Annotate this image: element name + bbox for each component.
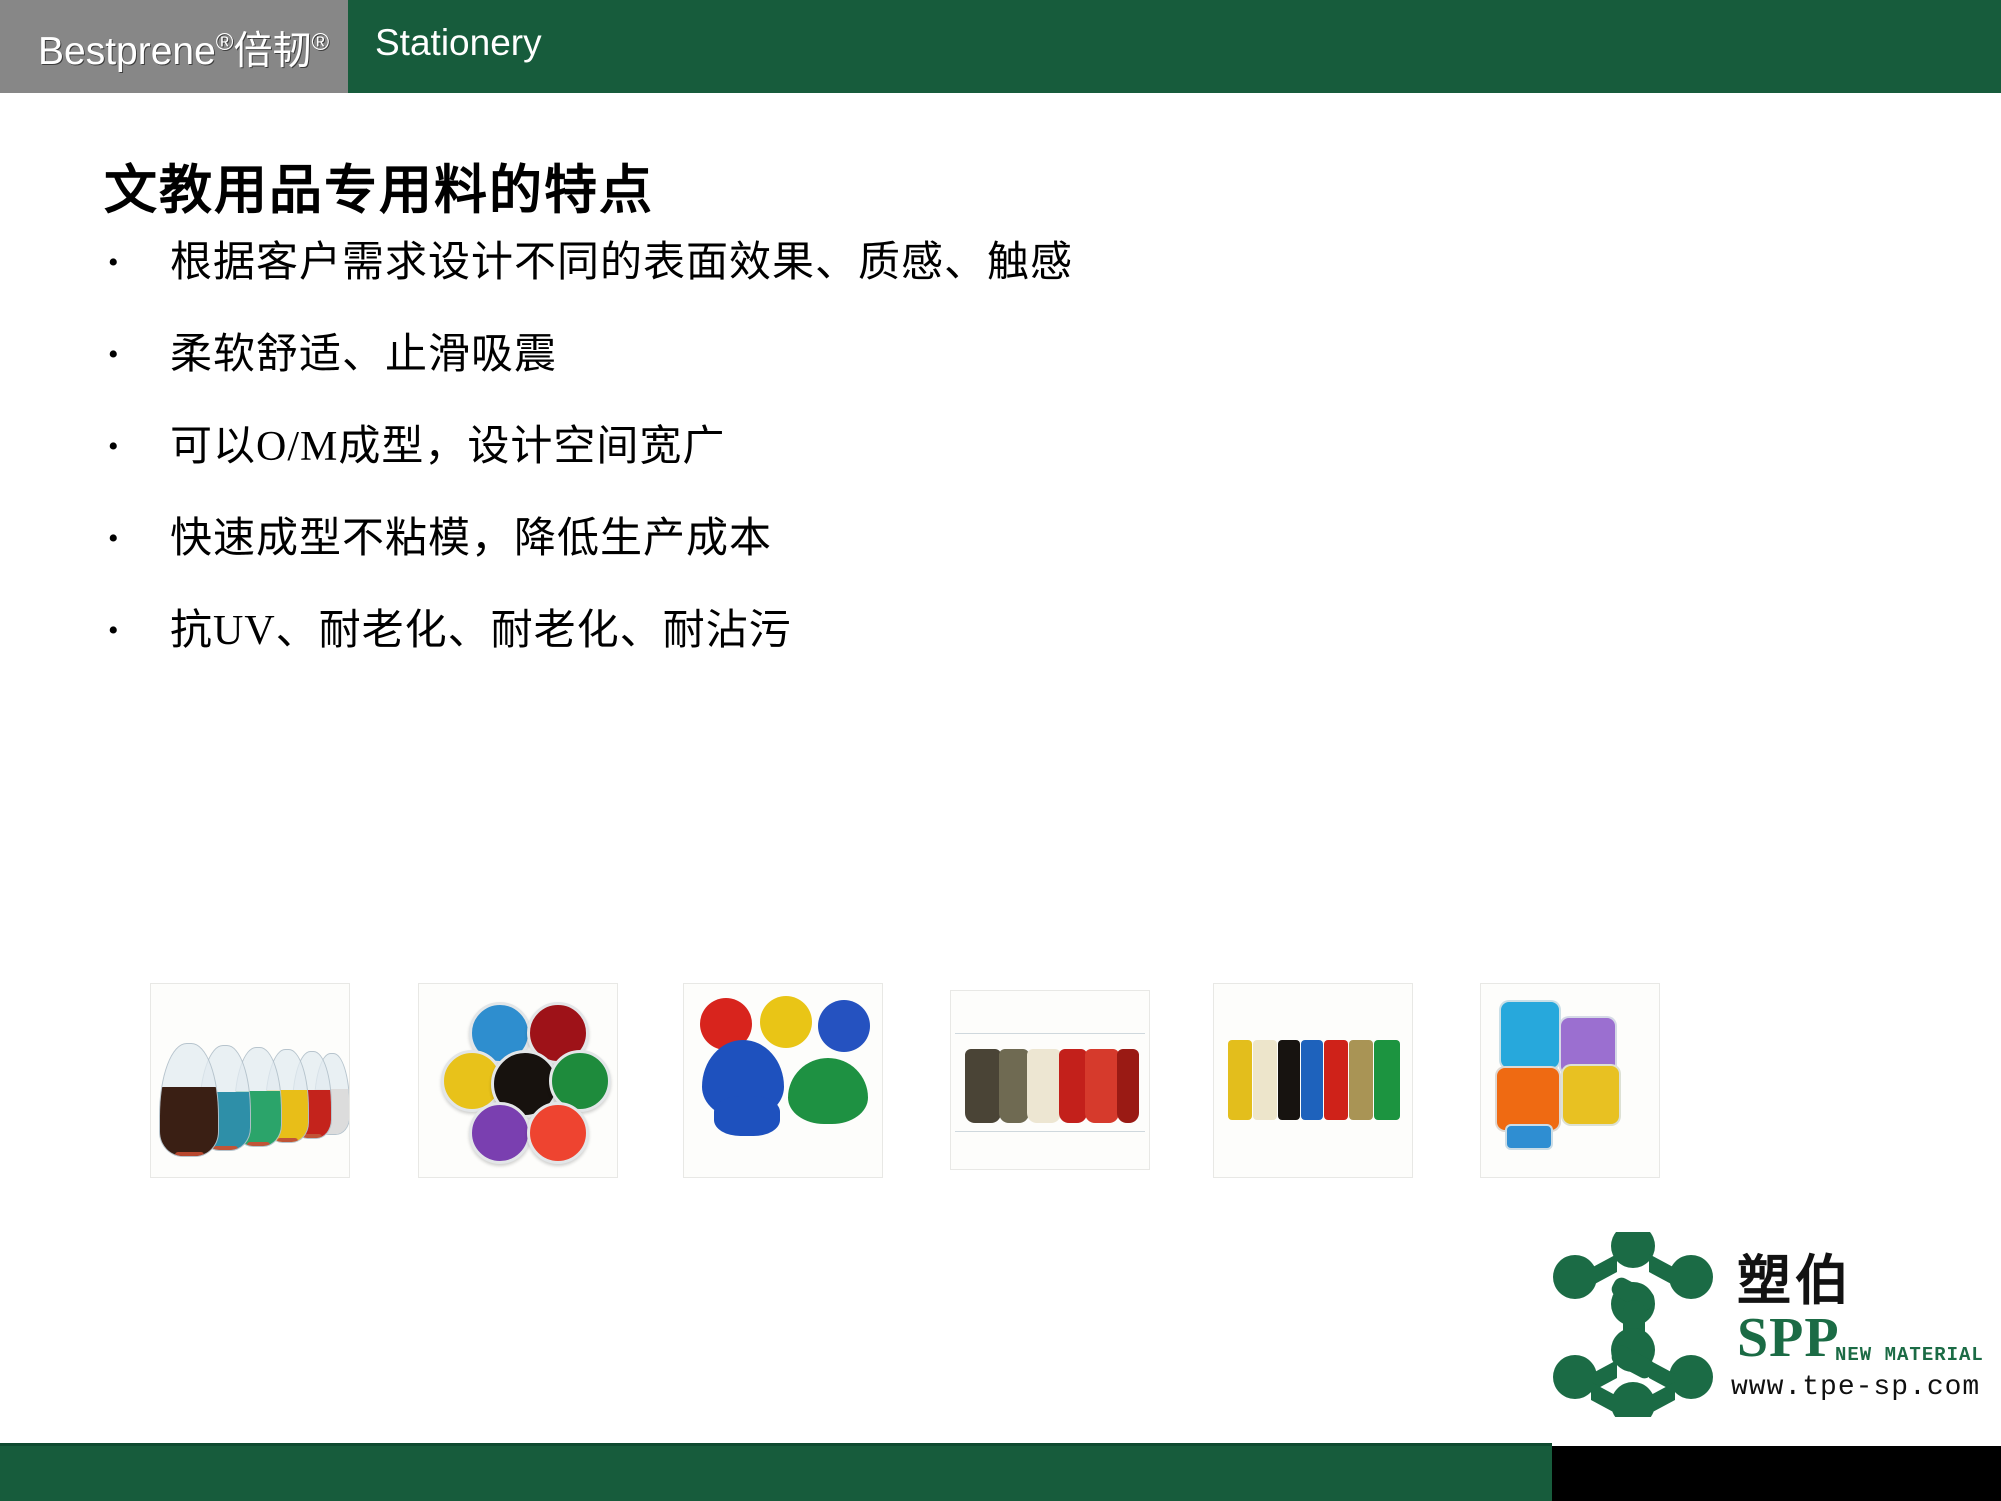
footer-green-bar xyxy=(0,1446,1552,1501)
list-item: • 抗UV、耐老化、耐老化、耐沾污 xyxy=(100,603,1400,695)
photo-granule-stripes-on-paper xyxy=(950,990,1150,1170)
list-item: • 可以O/M成型，设计空间宽广 xyxy=(100,419,1400,511)
registered-mark-icon: ® xyxy=(216,29,234,56)
logo-abbreviation: SPP xyxy=(1737,1306,1840,1370)
page-title: 文教用品专用料的特点 xyxy=(104,148,654,224)
list-item-text: 柔软舒适、止滑吸震 xyxy=(170,327,557,383)
photo-jars-colored-granules xyxy=(1480,983,1660,1178)
photo-beads-and-granule-piles xyxy=(683,983,883,1178)
list-item-text: 抗UV、耐老化、耐老化、耐沾污 xyxy=(170,603,792,659)
photo-granule-color-bands xyxy=(1213,983,1413,1178)
list-item: • 快速成型不粘模，降低生产成本 xyxy=(100,511,1400,603)
list-item: • 根据客户需求设计不同的表面效果、质感、触感 xyxy=(100,235,1400,327)
brand-name-cn: 倍韧 xyxy=(233,30,311,73)
list-item-text: 快速成型不粘模，降低生产成本 xyxy=(170,511,772,567)
feature-bullet-list: • 根据客户需求设计不同的表面效果、质感、触感 • 柔软舒适、止滑吸震 • 可以… xyxy=(100,235,1400,695)
brand-badge: Bestprene®倍韧® xyxy=(0,0,348,93)
spp-molecule-logo-icon xyxy=(1545,1232,1720,1417)
slide-header-bar: Bestprene®倍韧® Stationery xyxy=(0,0,2001,93)
brand-name: Bestprene xyxy=(38,30,216,73)
footer-divider xyxy=(0,1443,1552,1446)
photo-petri-dishes-granules xyxy=(418,983,618,1178)
logo-chinese-name: 塑伯 xyxy=(1737,1236,1853,1315)
list-item-text: 根据客户需求设计不同的表面效果、质感、触感 xyxy=(170,235,1073,291)
bullet-point-icon: • xyxy=(100,511,170,567)
bullet-point-icon: • xyxy=(100,603,170,659)
registered-mark-icon-2: ® xyxy=(312,29,330,56)
list-item-text: 可以O/M成型，设计空间宽广 xyxy=(170,419,725,475)
bullet-point-icon: • xyxy=(100,419,170,475)
section-title: Stationery xyxy=(375,22,542,64)
list-item: • 柔软舒适、止滑吸震 xyxy=(100,327,1400,419)
brand-title: Bestprene®倍韧® xyxy=(38,20,329,76)
logo-website-url: www.tpe-sp.com xyxy=(1731,1372,1980,1403)
product-photo-gallery xyxy=(150,983,1690,1183)
bullet-point-icon: • xyxy=(100,235,170,291)
company-logo: 塑伯 SPP NEW MATERIAL www.tpe-sp.com xyxy=(1545,1232,1965,1417)
bullet-point-icon: • xyxy=(100,327,170,383)
photo-flasks-colored-granules xyxy=(150,983,350,1178)
logo-tagline: NEW MATERIAL xyxy=(1835,1344,1984,1366)
